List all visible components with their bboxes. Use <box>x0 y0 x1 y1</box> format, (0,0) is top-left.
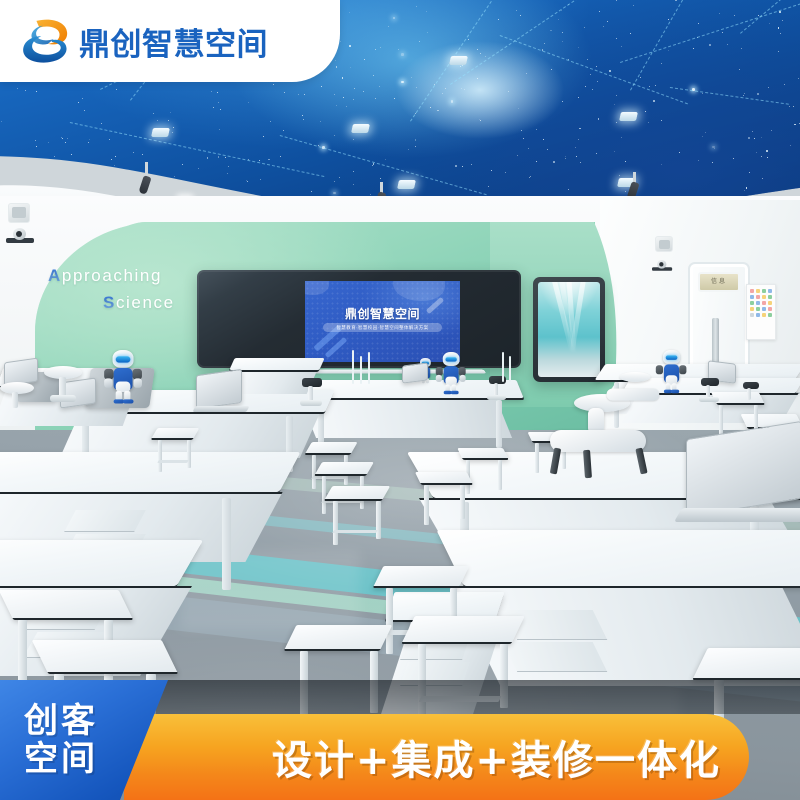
ribbon-e-logo-icon <box>22 18 70 64</box>
banner-orange-slogan: 设计+集成+装修一体化 <box>124 714 749 800</box>
transom-text: 信息 <box>700 274 738 290</box>
banner-orange-text: 设计+集成+装修一体化 <box>152 728 721 786</box>
ptz-camera <box>652 260 672 271</box>
screen-subtitle: 智慧教育·智慧校园·智慧空间整体解决方案 <box>323 323 442 332</box>
ceiling-spotlight <box>619 112 638 121</box>
poster-row <box>750 301 772 305</box>
brand-logo-text: 鼎创智慧空间 <box>79 19 268 64</box>
poster-row <box>750 307 772 311</box>
wall-poster <box>746 284 776 340</box>
classroom-render-scene: Approaching Science 鼎创智慧空间 智慧教育·智慧校园·智慧空… <box>0 0 800 800</box>
poster-row <box>750 289 772 293</box>
banner-dark-strip <box>120 680 800 714</box>
ceiling-spotlight <box>449 56 468 65</box>
poster-row <box>750 313 772 317</box>
poster-row <box>750 295 772 299</box>
slogan-initial-s: S <box>103 293 116 312</box>
wall-speaker <box>655 236 673 252</box>
wall-speaker <box>8 203 30 223</box>
ocean-scene <box>538 282 600 377</box>
ceiling-spotlight <box>397 180 416 189</box>
ceiling-spotlight <box>151 128 170 137</box>
slogan-rest-2: cience <box>116 293 175 312</box>
floor-reflection <box>180 550 360 630</box>
ptz-camera <box>6 228 34 243</box>
slogan-initial-a: A <box>48 266 62 285</box>
wall-vertical-display[interactable] <box>533 277 605 382</box>
ceiling-spotlight <box>351 124 370 133</box>
wide-blackboard[interactable]: 鼎创智慧空间 智慧教育·智慧校园·智慧空间整体解决方案 <box>197 270 521 368</box>
door-transom-window: 信息 <box>698 272 740 292</box>
brand-logo-badge[interactable]: 鼎创智慧空间 <box>0 0 340 82</box>
interactive-display-screen[interactable]: 鼎创智慧空间 智慧教育·智慧校园·智慧空间整体解决方案 <box>305 281 460 362</box>
screen-logo-text: 鼎创智慧空间 <box>305 305 460 322</box>
slogan-rest-1: pproaching <box>62 266 162 285</box>
